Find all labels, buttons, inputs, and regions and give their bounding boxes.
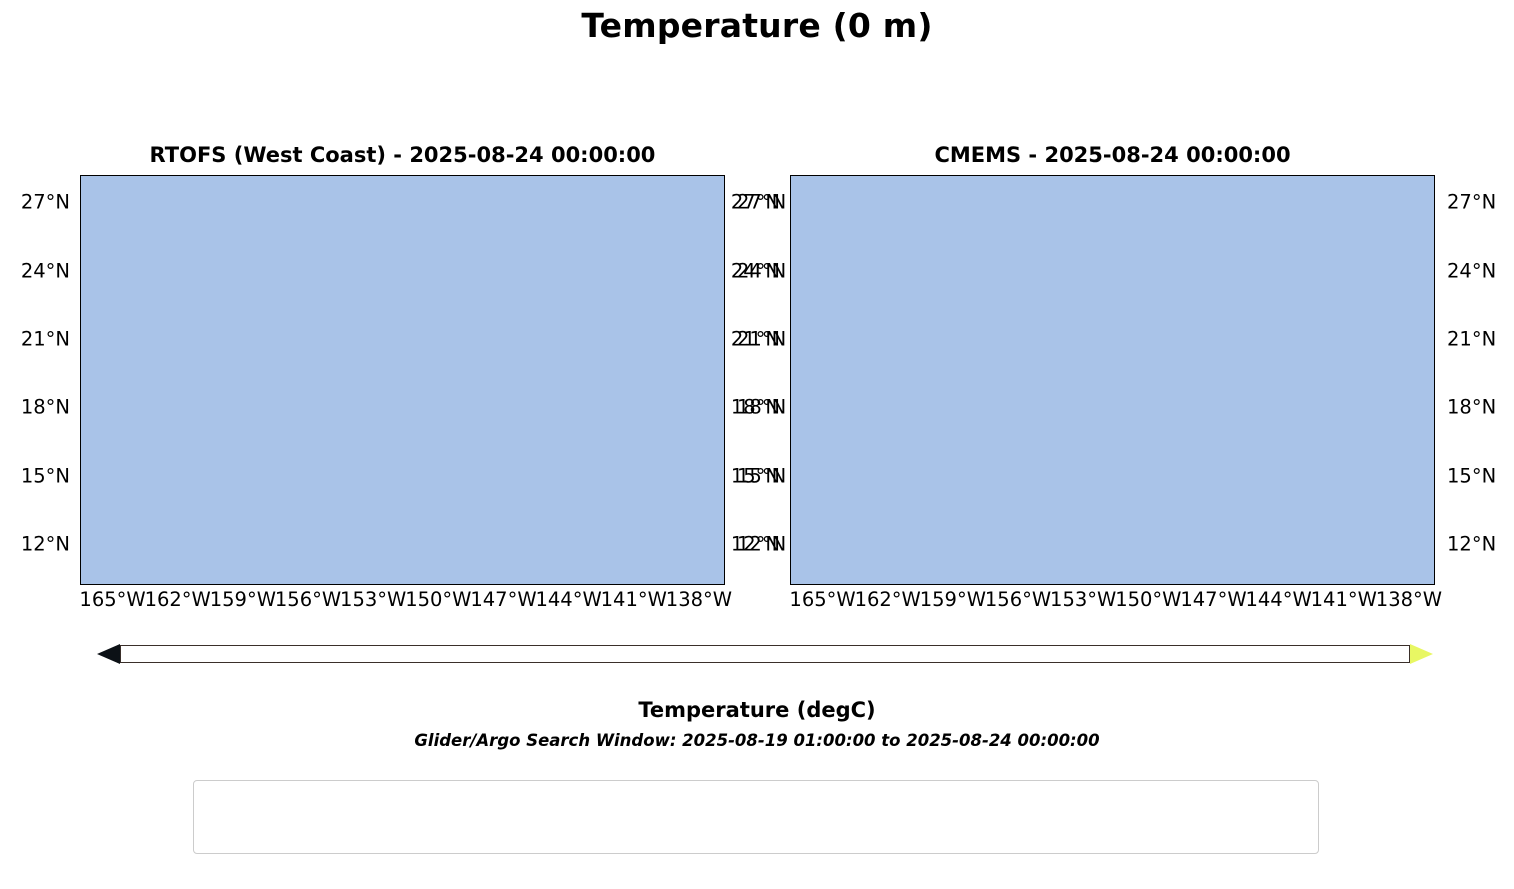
y-tick-minor xyxy=(80,511,81,513)
x-tick-minor xyxy=(276,175,278,176)
y-tick-label: 12°N xyxy=(0,533,70,556)
x-tick-minor xyxy=(921,175,923,176)
y-tick-minor xyxy=(1434,238,1435,240)
x-tick xyxy=(244,584,246,585)
x-tick-minor xyxy=(146,175,148,176)
x-tick-minor xyxy=(791,584,793,585)
x-tick xyxy=(700,584,702,585)
x-tick-label: 144°W xyxy=(1245,588,1311,611)
x-tick-minor xyxy=(1182,175,1184,176)
x-tick xyxy=(309,175,311,176)
x-tick xyxy=(1410,584,1412,585)
x-tick xyxy=(954,175,956,176)
x-tick-minor xyxy=(407,584,409,585)
x-tick-label: 138°W xyxy=(1376,588,1442,611)
y-tick-minor xyxy=(80,306,81,308)
y-tick xyxy=(790,272,791,274)
x-tick xyxy=(824,175,826,176)
y-tick xyxy=(790,203,791,205)
map-axes-rtofs[interactable] xyxy=(80,175,725,585)
y-tick xyxy=(80,340,81,342)
y-tick xyxy=(1434,272,1435,274)
x-tick xyxy=(1345,584,1347,585)
x-tick-minor xyxy=(342,175,344,176)
x-tick xyxy=(635,584,637,585)
y-tick xyxy=(1434,477,1435,479)
x-tick xyxy=(635,175,637,176)
x-tick xyxy=(114,584,116,585)
x-tick-label: 159°W xyxy=(920,588,986,611)
x-tick-minor xyxy=(1247,584,1249,585)
panel-title-cmems: CMEMS - 2025-08-24 00:00:00 xyxy=(790,143,1435,167)
x-tick-label: 144°W xyxy=(535,588,601,611)
y-tick xyxy=(80,408,81,410)
y-tick-minor xyxy=(724,374,725,376)
x-tick-minor xyxy=(211,584,213,585)
x-tick-label: 162°W xyxy=(145,588,211,611)
x-tick-label: 156°W xyxy=(275,588,341,611)
x-tick xyxy=(1084,175,1086,176)
y-tick xyxy=(1434,340,1435,342)
y-tick-label: 27°N xyxy=(1447,191,1496,214)
map-panel-cmems: CMEMS - 2025-08-24 00:00:00 xyxy=(790,175,1435,585)
y-tick xyxy=(80,272,81,274)
y-tick xyxy=(790,340,791,342)
y-tick-minor xyxy=(724,238,725,240)
x-tick-minor xyxy=(856,175,858,176)
x-tick-minor xyxy=(407,175,409,176)
x-tick-minor xyxy=(1117,584,1119,585)
x-tick-minor xyxy=(81,175,83,176)
x-tick-label: 159°W xyxy=(210,588,276,611)
x-tick-minor xyxy=(986,175,988,176)
x-tick-minor xyxy=(1312,175,1314,176)
x-tick xyxy=(700,175,702,176)
y-tick-minor xyxy=(1434,511,1435,513)
x-tick-minor xyxy=(342,584,344,585)
y-tick-label: 12°N xyxy=(1447,533,1496,556)
x-tick xyxy=(1214,584,1216,585)
x-tick xyxy=(954,584,956,585)
y-tick-minor xyxy=(80,374,81,376)
x-tick-minor xyxy=(1117,175,1119,176)
x-tick-minor xyxy=(791,175,793,176)
x-tick xyxy=(309,584,311,585)
x-tick xyxy=(439,175,441,176)
coastline-overlay-rtofs xyxy=(81,176,725,585)
y-tick xyxy=(1434,203,1435,205)
y-tick-minor xyxy=(724,511,725,513)
search-window-caption: Glider/Argo Search Window: 2025-08-19 01… xyxy=(0,731,1514,750)
x-tick-minor xyxy=(667,584,669,585)
x-tick-minor xyxy=(1377,175,1379,176)
x-tick xyxy=(570,584,572,585)
x-tick-minor xyxy=(602,175,604,176)
x-tick-label: 138°W xyxy=(666,588,732,611)
x-tick-minor xyxy=(1052,584,1054,585)
y-tick xyxy=(1434,545,1435,547)
x-tick xyxy=(1019,584,1021,585)
x-tick xyxy=(1149,584,1151,585)
y-tick xyxy=(80,203,81,205)
y-tick-minor xyxy=(790,443,791,445)
y-tick-label: 27°N xyxy=(708,191,780,214)
y-tick-minor xyxy=(80,579,81,581)
x-tick xyxy=(244,175,246,176)
y-tick-minor xyxy=(1434,306,1435,308)
x-tick-minor xyxy=(537,175,539,176)
y-tick xyxy=(790,408,791,410)
legend xyxy=(193,780,1319,854)
x-tick-label: 141°W xyxy=(601,588,667,611)
x-tick xyxy=(889,175,891,176)
x-tick xyxy=(889,584,891,585)
y-tick-label: 24°N xyxy=(0,259,70,282)
y-tick-label: 21°N xyxy=(708,328,780,351)
x-tick xyxy=(1410,175,1412,176)
x-tick-label: 141°W xyxy=(1311,588,1377,611)
x-tick-minor xyxy=(146,584,148,585)
y-tick xyxy=(1434,408,1435,410)
x-tick-label: 153°W xyxy=(340,588,406,611)
colorbar-label: Temperature (degC) xyxy=(0,698,1514,722)
x-tick-minor xyxy=(921,584,923,585)
x-tick-label: 165°W xyxy=(79,588,145,611)
x-tick-label: 147°W xyxy=(1180,588,1246,611)
x-tick-minor xyxy=(276,584,278,585)
y-tick-label: 27°N xyxy=(0,191,70,214)
y-tick xyxy=(790,545,791,547)
y-tick-label: 21°N xyxy=(0,328,70,351)
y-tick-minor xyxy=(790,238,791,240)
y-tick-label: 24°N xyxy=(708,259,780,282)
panel-title-rtofs: RTOFS (West Coast) - 2025-08-24 00:00:00 xyxy=(80,143,725,167)
x-tick-minor xyxy=(81,584,83,585)
y-tick-minor xyxy=(1434,579,1435,581)
x-tick xyxy=(179,175,181,176)
x-tick-minor xyxy=(986,584,988,585)
x-tick xyxy=(1019,175,1021,176)
y-tick-label: 24°N xyxy=(1447,259,1496,282)
y-tick-minor xyxy=(724,579,725,581)
y-tick-minor xyxy=(790,306,791,308)
y-tick-minor xyxy=(790,579,791,581)
x-tick-minor xyxy=(211,175,213,176)
x-tick xyxy=(504,584,506,585)
x-tick xyxy=(1345,175,1347,176)
y-tick-minor xyxy=(790,511,791,513)
coastline-overlay-cmems xyxy=(791,176,1435,585)
y-tick-label: 18°N xyxy=(1447,396,1496,419)
figure-title: Temperature (0 m) xyxy=(0,6,1514,45)
y-tick-label: 18°N xyxy=(0,396,70,419)
x-tick-minor xyxy=(537,584,539,585)
x-tick-label: 156°W xyxy=(985,588,1051,611)
y-tick xyxy=(790,477,791,479)
y-tick-minor xyxy=(1434,374,1435,376)
x-tick-minor xyxy=(667,175,669,176)
y-tick xyxy=(80,545,81,547)
x-tick xyxy=(374,584,376,585)
colorbar-gradient xyxy=(120,645,1410,663)
x-tick xyxy=(179,584,181,585)
y-tick-label: 15°N xyxy=(1447,464,1496,487)
x-tick-minor xyxy=(1182,584,1184,585)
x-tick-minor xyxy=(1052,175,1054,176)
x-tick-minor xyxy=(1312,584,1314,585)
x-tick xyxy=(114,175,116,176)
x-tick xyxy=(1280,175,1282,176)
colorbar-extend-low xyxy=(97,644,120,664)
x-tick xyxy=(439,584,441,585)
x-tick-label: 153°W xyxy=(1050,588,1116,611)
x-tick xyxy=(1084,584,1086,585)
x-tick-minor xyxy=(1247,175,1249,176)
x-tick-label: 147°W xyxy=(470,588,536,611)
y-tick xyxy=(80,477,81,479)
x-tick xyxy=(374,175,376,176)
y-tick-label: 18°N xyxy=(708,396,780,419)
x-tick-minor xyxy=(472,175,474,176)
y-tick-label: 15°N xyxy=(708,464,780,487)
x-tick-label: 165°W xyxy=(789,588,855,611)
y-tick-minor xyxy=(724,443,725,445)
x-tick xyxy=(1280,584,1282,585)
x-tick-minor xyxy=(856,584,858,585)
map-panel-rtofs: RTOFS (West Coast) - 2025-08-24 00:00:00 xyxy=(80,175,725,585)
y-tick-minor xyxy=(1434,443,1435,445)
x-tick-minor xyxy=(1377,584,1379,585)
colorbar xyxy=(120,645,1410,663)
y-tick-label: 21°N xyxy=(1447,328,1496,351)
y-tick-minor xyxy=(80,238,81,240)
x-tick xyxy=(570,175,572,176)
x-tick xyxy=(504,175,506,176)
x-tick-minor xyxy=(472,584,474,585)
x-tick-label: 150°W xyxy=(1115,588,1181,611)
x-tick-minor xyxy=(602,584,604,585)
y-tick-label: 12°N xyxy=(708,533,780,556)
map-axes-cmems[interactable] xyxy=(790,175,1435,585)
x-tick xyxy=(824,584,826,585)
x-tick xyxy=(1214,175,1216,176)
y-tick-minor xyxy=(790,374,791,376)
x-tick xyxy=(1149,175,1151,176)
figure: Temperature (0 m) RTOFS (West Coast) - 2… xyxy=(0,0,1514,889)
y-tick-minor xyxy=(724,306,725,308)
colorbar-extend-high xyxy=(1410,644,1433,664)
x-tick-label: 150°W xyxy=(405,588,471,611)
y-tick-minor xyxy=(80,443,81,445)
x-tick-label: 162°W xyxy=(855,588,921,611)
y-tick-label: 15°N xyxy=(0,464,70,487)
